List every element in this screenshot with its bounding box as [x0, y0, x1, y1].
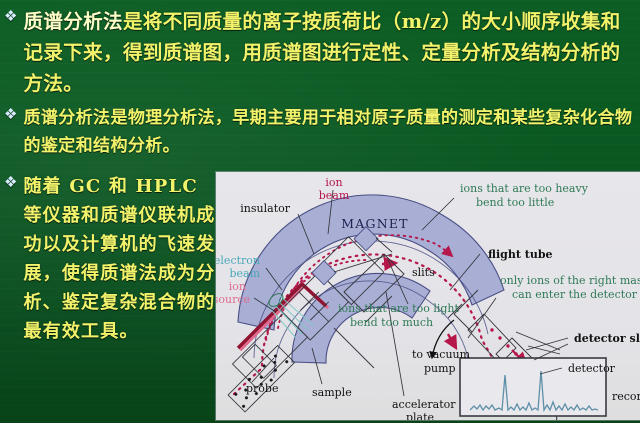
probe-block — [228, 345, 294, 411]
label-detector-slits: detector slits — [574, 332, 640, 345]
label-ion-beam-line1: ion — [325, 176, 342, 189]
label-too-heavy-line2: bend too little — [476, 196, 554, 209]
label-vacuum-line1: to vacuum — [412, 348, 471, 361]
label-right-mass-line2: can enter the detector — [512, 288, 638, 301]
label-too-heavy-line1: ions that are too heavy — [460, 182, 589, 195]
label-recorder: recorder — [612, 390, 640, 403]
bullet-text-2: 质谱分析法是物理分析法，早期主要用于相对原子质量的测定和某些复杂化合物的鉴定和结… — [23, 104, 636, 160]
label-electron-beam-line2: beam — [229, 267, 260, 280]
label-detector: detector — [568, 362, 616, 375]
bullet-item-1: ❖ 质谱分析法是将不同质量的离子按质荷比（m/z）的大小顺序收集和记录下来，得到… — [4, 6, 636, 99]
label-insulator: insulator — [240, 202, 290, 215]
label-probe: probe — [246, 382, 278, 395]
mass-spectrometer-diagram: MAGNET — [216, 172, 640, 420]
label-too-light-line1: ions that are too light — [338, 302, 459, 315]
bullet-marker-icon: ❖ — [4, 6, 17, 24]
label-sample: sample — [312, 386, 352, 399]
bullet-marker-icon: ❖ — [4, 172, 17, 190]
bullet-lead-1: 质谱分析法 — [23, 10, 123, 33]
label-electron-beam-line1: electron — [216, 254, 260, 267]
label-ion-source-line2: source — [216, 293, 250, 306]
label-too-light-line2: bend too much — [350, 316, 433, 329]
label-ion-beam-line2: beam — [319, 189, 350, 202]
label-slits: slits — [412, 266, 435, 279]
label-flight-tube: flight tube — [488, 248, 553, 261]
magnet-label: MAGNET — [341, 216, 408, 231]
bullet-item-3: ❖ 随着 GC 和 HPLC 等仪器和质谱仪联机成功以及计算机的飞速发展，使得质… — [4, 172, 216, 346]
label-accelerator-plate-line1: accelerator — [392, 398, 456, 411]
bullet-text-3: 随着 GC 和 HPLC 等仪器和质谱仪联机成功以及计算机的飞速发展，使得质谱法… — [23, 172, 216, 346]
label-ion-source-line1: ion — [229, 280, 246, 293]
slide-canvas: ❖ 质谱分析法是将不同质量的离子按质荷比（m/z）的大小顺序收集和记录下来，得到… — [0, 0, 640, 423]
label-right-mass-line1: only ions of the right mass — [500, 274, 640, 287]
label-accelerator-plate-line2: plate — [406, 411, 434, 420]
bullet-text-1: 质谱分析法是将不同质量的离子按质荷比（m/z）的大小顺序收集和记录下来，得到质谱… — [23, 6, 636, 99]
bullet-item-2: ❖ 质谱分析法是物理分析法，早期主要用于相对原子质量的测定和某些复杂化合物的鉴定… — [4, 104, 636, 160]
bullet-marker-icon: ❖ — [4, 104, 17, 122]
label-vacuum-line2: pump — [424, 362, 456, 375]
